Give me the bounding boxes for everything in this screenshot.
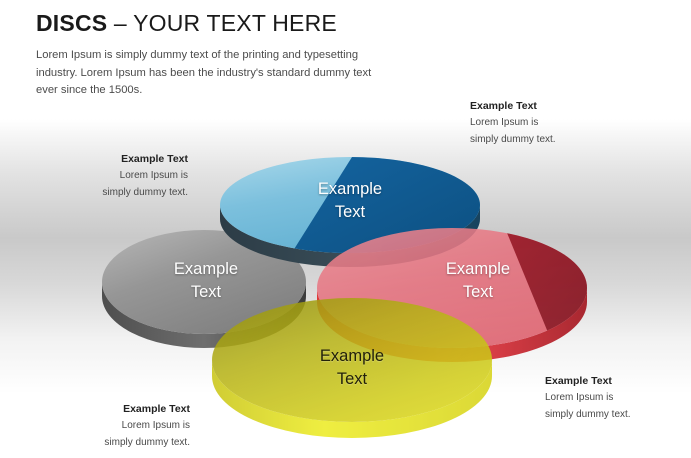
disc-yellow[interactable] bbox=[212, 298, 492, 438]
callout-bottom-left-line1: Lorem Ipsum is bbox=[30, 419, 190, 434]
callout-bottom-left-title: Example Text bbox=[30, 402, 190, 417]
callout-bottom-right-line2: simply dummy text. bbox=[545, 408, 691, 423]
callout-top-left-line1: Lorem Ipsum is bbox=[28, 169, 188, 184]
callout-top-right-line2: simply dummy text. bbox=[470, 133, 630, 148]
disc-yellow-top bbox=[212, 298, 492, 422]
slide-canvas: DISCS – YOUR TEXT HERE Lorem Ipsum is si… bbox=[0, 0, 691, 458]
callout-top-left-line2: simply dummy text. bbox=[28, 186, 188, 201]
callout-bottom-left[interactable]: Example Text Lorem Ipsum is simply dummy… bbox=[30, 402, 190, 450]
callout-bottom-right[interactable]: Example Text Lorem Ipsum is simply dummy… bbox=[545, 374, 691, 422]
callout-top-right-title: Example Text bbox=[470, 99, 630, 114]
callout-bottom-left-line2: simply dummy text. bbox=[30, 436, 190, 451]
callout-top-left-title: Example Text bbox=[28, 152, 188, 167]
callout-top-right[interactable]: Example Text Lorem Ipsum is simply dummy… bbox=[470, 99, 630, 147]
callout-bottom-right-title: Example Text bbox=[545, 374, 691, 389]
callout-bottom-right-line1: Lorem Ipsum is bbox=[545, 391, 691, 406]
callout-top-left[interactable]: Example Text Lorem Ipsum is simply dummy… bbox=[28, 152, 188, 200]
callout-top-right-line1: Lorem Ipsum is bbox=[470, 116, 630, 131]
discs-diagram: Example Text Example Text Example Text E… bbox=[0, 0, 691, 458]
